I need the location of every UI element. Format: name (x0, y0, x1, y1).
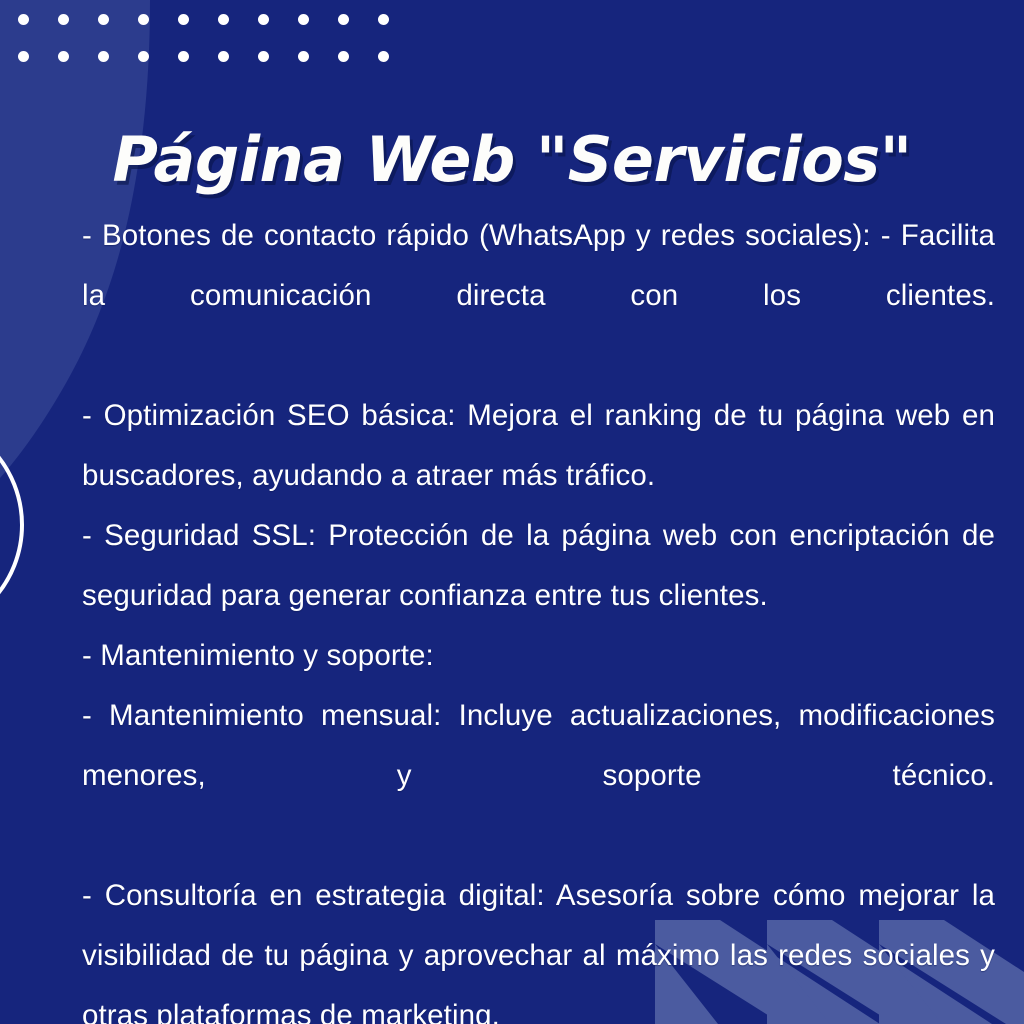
body-paragraph: - Optimización SEO básica: Mejora el ran… (82, 386, 995, 506)
body-paragraph: - Botones de contacto rápido (WhatsApp y… (82, 206, 995, 386)
body-paragraph: - Seguridad SSL: Protección de la página… (82, 506, 995, 626)
body-paragraph: - Mantenimiento y soporte: (82, 626, 995, 686)
body-paragraph: - Mantenimiento mensual: Incluye actuali… (82, 686, 995, 866)
content-layer: Página Web "Servicios" - Botones de cont… (0, 0, 1024, 1024)
page-title: Página Web "Servicios" (0, 124, 1024, 196)
slide-canvas: Página Web "Servicios" - Botones de cont… (0, 0, 1024, 1024)
body-text-block: - Botones de contacto rápido (WhatsApp y… (82, 206, 995, 1024)
body-paragraph: - Consultoría en estrategia digital: Ase… (82, 866, 995, 1024)
